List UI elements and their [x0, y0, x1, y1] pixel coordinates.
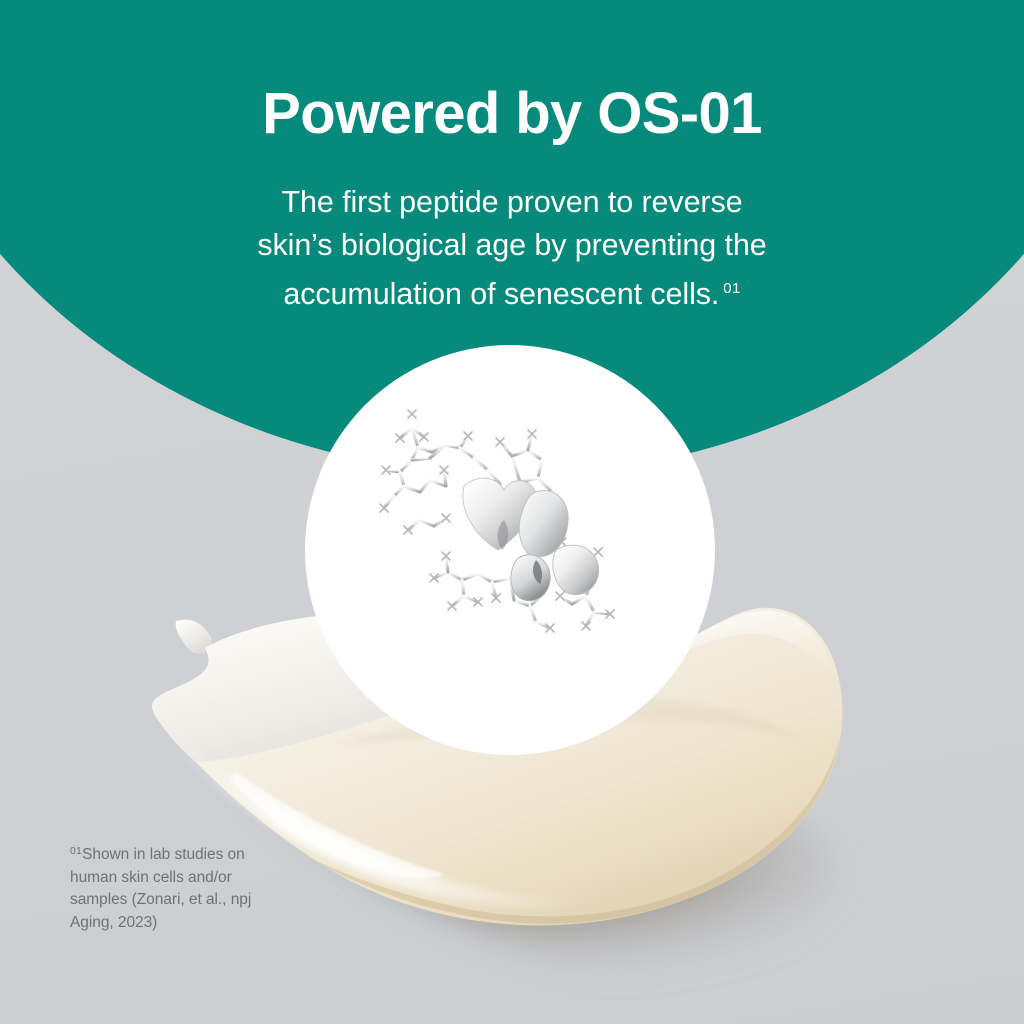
footnote-marker: 01 [70, 845, 82, 857]
footnote-marker-superscript: 01 [723, 280, 740, 297]
subcopy-line-2: skin’s biological age by preventing the [257, 228, 766, 262]
os-01-peptide-molecule-icon [360, 400, 660, 700]
marketing-card: Powered by OS-01 The first peptide prove… [0, 0, 1024, 1024]
page-title: Powered by OS-01 [0, 0, 1024, 143]
subcopy-line-1: The first peptide proven to reverse [281, 185, 742, 219]
footnote: 01Shown in lab studies on human skin cel… [70, 840, 252, 934]
molecule-badge [305, 345, 715, 755]
footnote-text: Shown in lab studies on human skin cells… [70, 846, 251, 931]
molecule-ribbon-surfaces [463, 478, 599, 601]
hero-subcopy: The first peptide proven to reverse skin… [162, 181, 862, 316]
hero-copy: Powered by OS-01 The first peptide prove… [0, 0, 1024, 316]
subcopy-line-3: accumulation of senescent cells. [283, 277, 719, 311]
